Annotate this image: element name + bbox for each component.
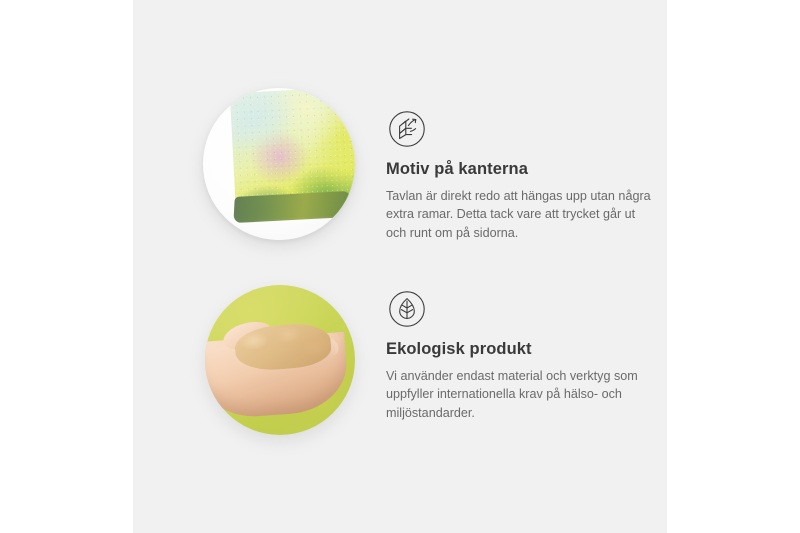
canvas-wrapped-edges-icon [386, 108, 428, 150]
leaf-icon [386, 288, 428, 330]
feature-text-eco-product: Ekologisk produkt Vi använder endast mat… [386, 288, 671, 423]
feature-text-canvas-edges: Motiv på kanterna Tavlan är direkt redo … [386, 108, 671, 243]
feature-title: Motiv på kanterna [386, 160, 671, 180]
feature-description: Tavlan är direkt redo att hängas upp uta… [386, 187, 658, 243]
feature-description: Vi använder endast material och verktyg … [386, 367, 658, 423]
canvas-print-photo [203, 88, 355, 240]
feature-title: Ekologisk produkt [386, 340, 671, 360]
product-feature-banner: Motiv på kanterna Tavlan är direkt redo … [0, 0, 800, 533]
canvas-art [233, 90, 355, 236]
canvas-art-edge [233, 191, 350, 223]
wood-chips-in-hands-photo [205, 285, 355, 435]
content-panel: Motiv på kanterna Tavlan är direkt redo … [133, 0, 667, 533]
